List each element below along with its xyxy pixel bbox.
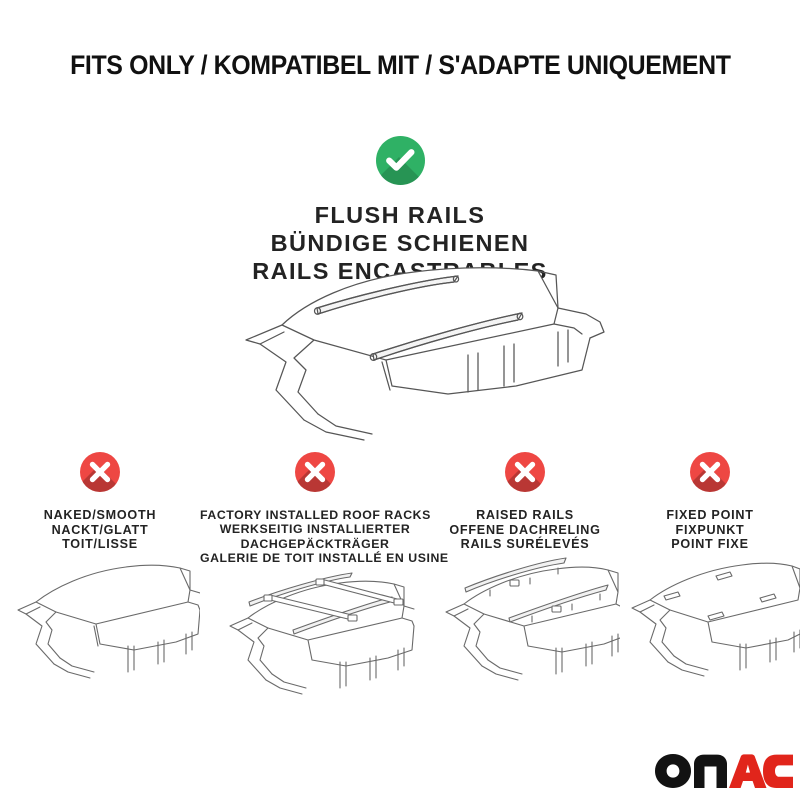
rejected-label-fr: TOIT/LISSE xyxy=(0,537,200,552)
rejected-label-de-1: WERKSEITIG INSTALLIERTER xyxy=(200,522,430,536)
approved-label-en: FLUSH RAILS xyxy=(0,201,800,229)
approved-label-de: BÜNDIGE SCHIENEN xyxy=(0,229,800,257)
badge-wrap xyxy=(430,452,620,504)
rejected-label-en: RAISED RAILS xyxy=(430,508,620,523)
rejected-option-factory-roof-racks: FACTORY INSTALLED ROOF RACKS WERKSEITIG … xyxy=(200,452,430,565)
page-title-text: FITS ONLY / KOMPATIBEL MIT / S'ADAPTE UN… xyxy=(70,50,730,81)
rejected-labels: RAISED RAILS OFFENE DACHRELING RAILS SUR… xyxy=(430,508,620,552)
rejected-options: NAKED/SMOOTH NACKT/GLATT TOIT/LISSE xyxy=(0,452,800,752)
page-title: FITS ONLY / KOMPATIBEL MIT / S'ADAPTE UN… xyxy=(0,50,800,81)
badge-wrap xyxy=(0,452,200,504)
rejected-label-de: NACKT/GLATT xyxy=(0,523,200,538)
car-roof-with-flush-rails-illustration xyxy=(186,262,636,442)
car-roof-with-raised-rails-illustration xyxy=(430,552,620,712)
rejected-option-fixed-point: FIXED POINT FIXPUNKT POINT FIXE xyxy=(620,452,800,552)
rejected-label-de: OFFENE DACHRELING xyxy=(430,523,620,538)
rejected-labels: FACTORY INSTALLED ROOF RACKS WERKSEITIG … xyxy=(200,508,430,565)
badge-wrap xyxy=(620,452,800,504)
cross-mark-icon xyxy=(690,452,730,492)
rejected-label-fr: GALERIE DE TOIT INSTALLÉ EN USINE xyxy=(200,551,430,565)
car-roof-with-fixed-points-illustration xyxy=(620,544,800,704)
rejected-option-raised-rails: RAISED RAILS OFFENE DACHRELING RAILS SUR… xyxy=(430,452,620,552)
rejected-label-fr: RAILS SURÉLEVÉS xyxy=(430,537,620,552)
rejected-label-en: FIXED POINT xyxy=(620,508,800,523)
omac-logo xyxy=(655,752,793,790)
car-roof-naked-smooth-illustration xyxy=(0,552,200,712)
infographic-page: FITS ONLY / KOMPATIBEL MIT / S'ADAPTE UN… xyxy=(0,0,800,800)
badge-wrap xyxy=(200,452,430,504)
cross-mark-icon xyxy=(80,452,120,492)
rejected-option-naked-smooth: NAKED/SMOOTH NACKT/GLATT TOIT/LISSE xyxy=(0,452,200,552)
cross-mark-icon xyxy=(505,452,545,492)
rejected-label-de: FIXPUNKT xyxy=(620,523,800,538)
car-roof-with-factory-crossbars-illustration xyxy=(200,564,430,724)
cross-mark-icon xyxy=(295,452,335,492)
rejected-labels: NAKED/SMOOTH NACKT/GLATT TOIT/LISSE xyxy=(0,508,200,552)
rejected-label-de-2: DACHGEPÄCKTRÄGER xyxy=(200,537,430,551)
check-mark-icon xyxy=(376,136,425,185)
rejected-label-en: NAKED/SMOOTH xyxy=(0,508,200,523)
rejected-label-en: FACTORY INSTALLED ROOF RACKS xyxy=(200,508,430,522)
